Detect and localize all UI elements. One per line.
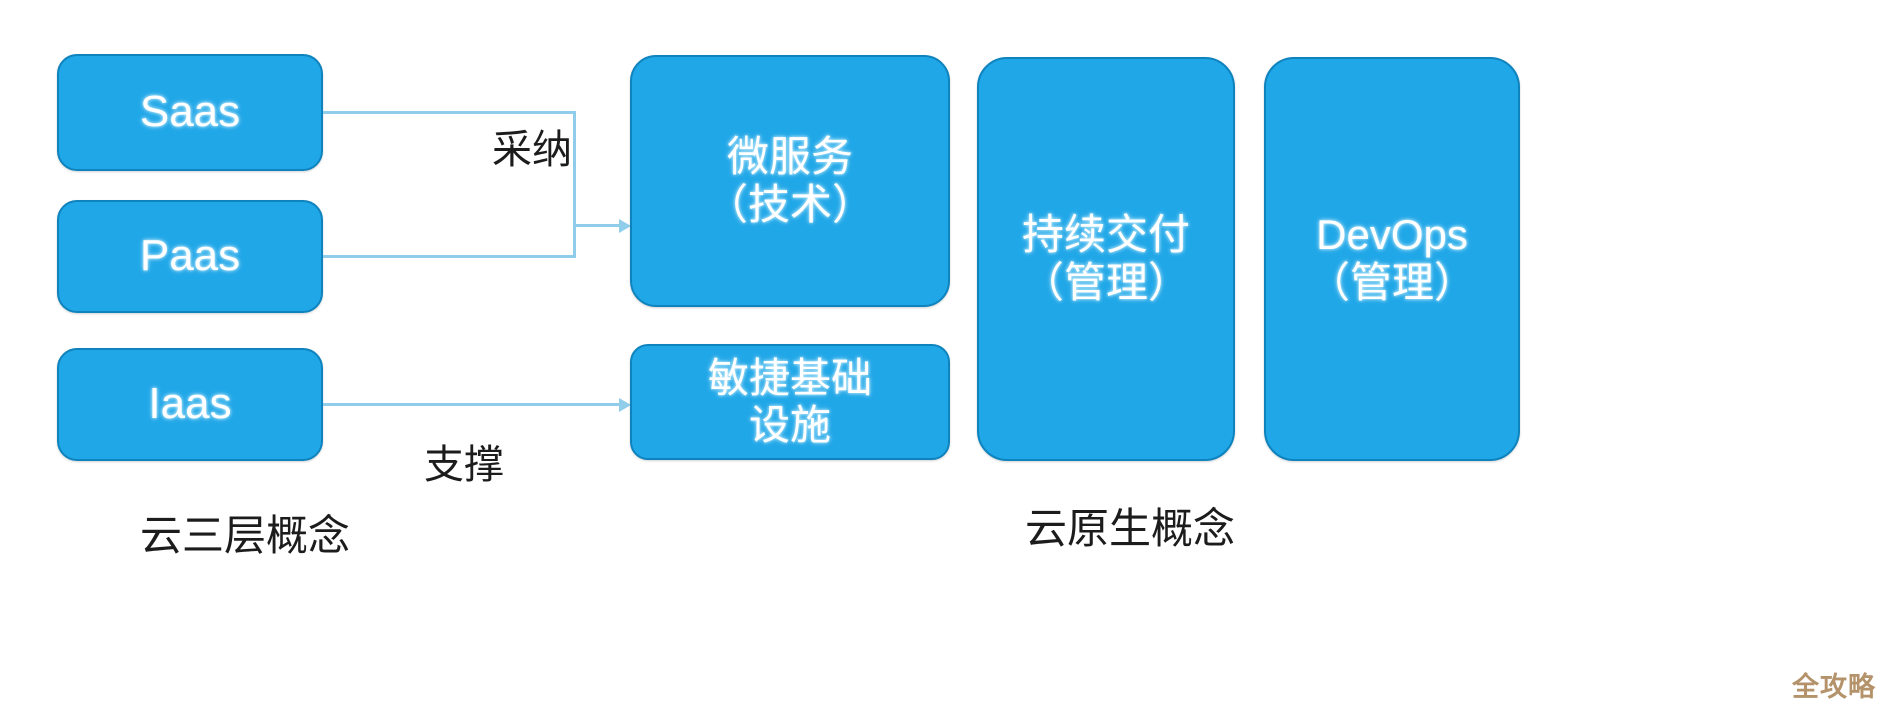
node-agile-infra-label-line2: 设施 — [749, 402, 831, 449]
node-microservice-label-line1: 微服务 — [727, 133, 853, 181]
node-iaas[interactable]: Iaas — [57, 348, 323, 461]
node-iaas-label: Iaas — [148, 379, 231, 430]
connector-iaas-to-agile-infra — [323, 403, 623, 406]
node-microservice-label-line2: （技术） — [706, 181, 874, 229]
diagram-canvas: Saas Paas Iaas 采纳 支撑 微服务 （技术） 敏捷基础 设施 持续… — [0, 0, 1890, 712]
node-saas[interactable]: Saas — [57, 54, 323, 171]
node-devops[interactable]: DevOps （管理） — [1264, 57, 1520, 461]
watermark: 全攻略 — [1792, 665, 1876, 704]
edge-label-support: 支撑 — [424, 432, 504, 490]
group-label-cloud-native: 云原生概念 — [1025, 495, 1235, 556]
edge-label-adopt: 采纳 — [492, 117, 572, 175]
node-microservice[interactable]: 微服务 （技术） — [630, 55, 950, 307]
node-devops-label-line2: （管理） — [1308, 259, 1476, 307]
node-paas-label: Paas — [140, 231, 240, 282]
connector-adopt-to-microservice — [573, 224, 623, 227]
node-continuous-delivery-label-line2: （管理） — [1022, 259, 1190, 307]
node-agile-infra[interactable]: 敏捷基础 设施 — [630, 344, 950, 460]
node-continuous-delivery[interactable]: 持续交付 （管理） — [977, 57, 1235, 461]
node-paas[interactable]: Paas — [57, 200, 323, 313]
connector-adopt-vertical — [573, 111, 576, 258]
group-label-cloud-three-layers: 云三层概念 — [140, 502, 350, 563]
connector-paas-horizontal — [323, 255, 576, 258]
connector-saas-horizontal — [323, 111, 576, 114]
node-continuous-delivery-label-line1: 持续交付 — [1022, 211, 1190, 259]
node-devops-label-line1: DevOps — [1316, 211, 1468, 259]
node-saas-label: Saas — [140, 87, 240, 138]
node-agile-infra-label-line1: 敏捷基础 — [708, 355, 872, 402]
